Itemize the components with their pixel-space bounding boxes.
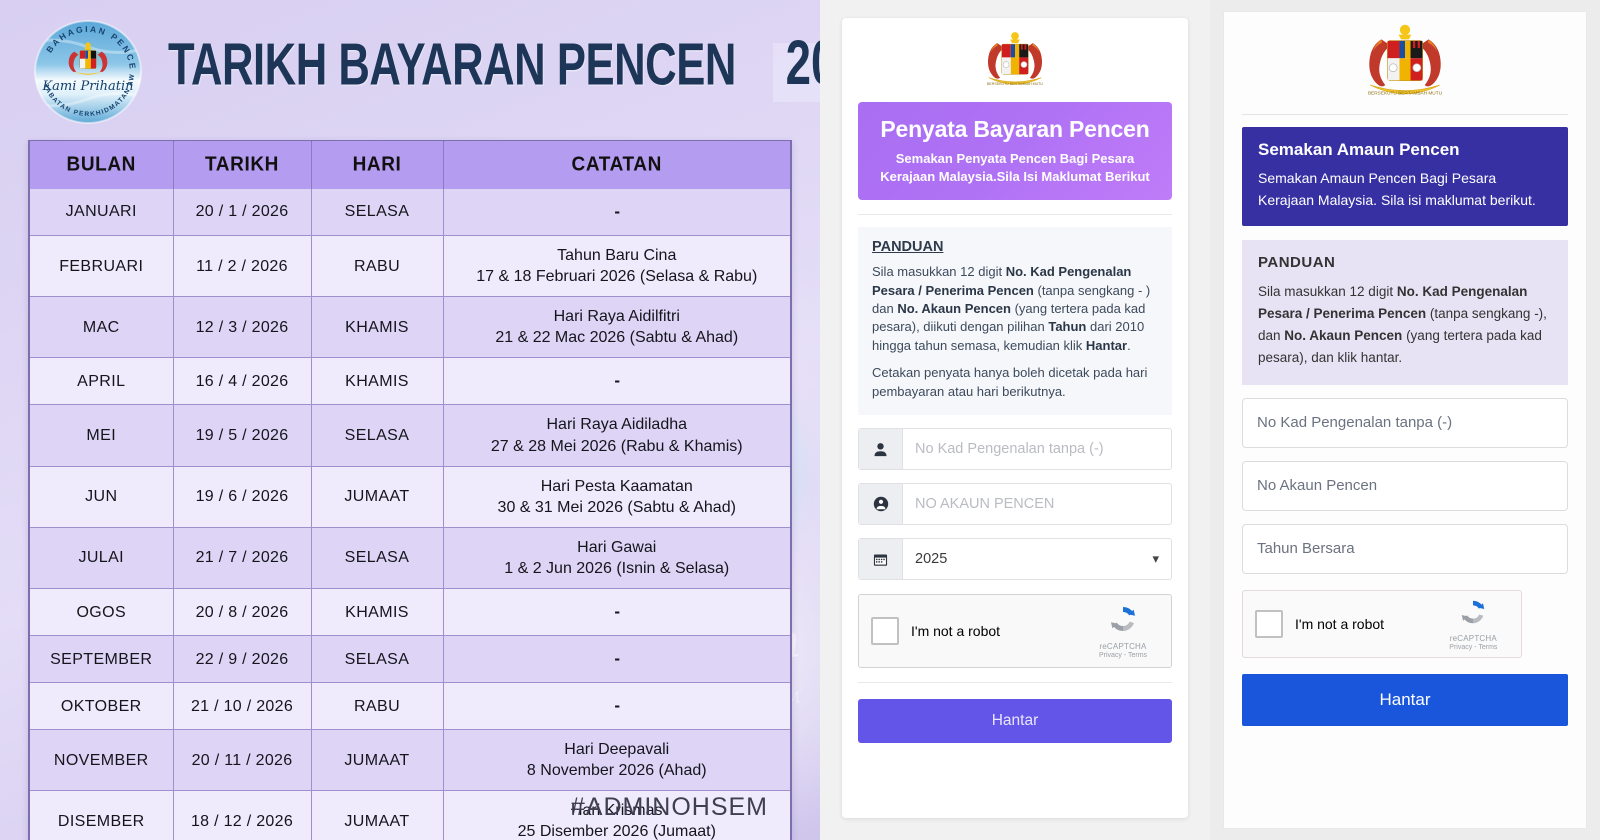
cell-date: 20 / 1 / 2026 [173,189,311,236]
account-input-wrap[interactable] [903,484,1171,524]
cell-month: JANUARI [29,189,173,236]
cell-note: Hari Raya Aidilfitri 21 & 22 Mac 2026 (S… [443,297,791,358]
col-header-tarikh: TARIKH [173,140,311,190]
cell-date: 11 / 2 / 2026 [173,236,311,297]
cell-day: SELASA [311,636,443,683]
cell-day: KHAMIS [311,589,443,636]
page-title: TARIKH BAYARAN PENCEN [168,30,736,99]
malaysia-coat-of-arms-icon: BERSEKUTU BERTAMBAH MUTU [1357,22,1453,104]
cell-date: 19 / 6 / 2026 [173,466,311,527]
recaptcha-logo-icon [1458,597,1488,627]
cell-day: JUMAAT [311,791,443,840]
penyata-bayaran-pencen-panel: BERSEKUTU BERTAMBAH MUTU Penyata Bayaran… [820,0,1210,840]
cell-month: OKTOBER [29,683,173,730]
table-row: MAC 12 / 3 / 2026 KHAMIS Hari Raya Aidil… [29,297,791,358]
panduan-paragraph: Sila masukkan 12 digit No. Kad Pengenala… [1258,281,1552,368]
recaptcha-branding: reCAPTCHA Privacy - Terms [1087,603,1159,659]
table-row: JULAI 21 / 7 / 2026 SELASA Hari Gawai 1 … [29,527,791,588]
recaptcha-legal-text: Privacy - Terms [1087,652,1159,659]
panduan-box: PANDUAN Sila masukkan 12 digit No. Kad P… [858,227,1172,415]
calendar-icon [859,539,903,579]
recaptcha-label: I'm not a robot [1295,616,1384,632]
cell-date: 12 / 3 / 2026 [173,297,311,358]
pension-payment-dates-poster: Prihatin JABATAN PERKHIDMATAN AWAM [0,0,820,840]
cell-date: 22 / 9 / 2026 [173,636,311,683]
ic-input[interactable] [1243,414,1567,431]
cell-date: 18 / 12 / 2026 [173,791,311,840]
poster-title-group: TARIKH BAYARAN PENCEN 2026 [168,43,820,102]
table-row: OGOS 20 / 8 / 2026 KHAMIS - [29,589,791,636]
submit-button[interactable]: Hantar [858,699,1172,743]
cell-note: - [443,189,791,236]
cell-note: Hari Deepavali 8 November 2026 (Ahad) [443,730,791,791]
cell-month: APRIL [29,358,173,405]
table-row: NOVEMBER 20 / 11 / 2026 JUMAAT Hari Deep… [29,730,791,791]
table-row: APRIL 16 / 4 / 2026 KHAMIS - [29,358,791,405]
cell-month: JULAI [29,527,173,588]
col-header-hari: HARI [311,140,443,190]
recaptcha-checkbox[interactable] [1255,610,1283,638]
penyata-banner: Penyata Bayaran Pencen Semakan Penyata P… [858,102,1172,200]
account-input[interactable] [1243,477,1567,494]
ic-field-row[interactable] [858,428,1172,470]
cell-day: SELASA [311,189,443,236]
cell-note: - [443,636,791,683]
crest-container: BERSEKUTU BERTAMBAH MUTU [858,18,1172,102]
recaptcha-left[interactable]: I'm not a robot [871,617,1087,645]
payment-schedule-table: BULAN TARIKH HARI CATATAN JANUARI 20 / 1… [28,140,792,840]
panduan-paragraph-1: Sila masukkan 12 digit No. Kad Pengenala… [872,263,1158,355]
recaptcha-branding: reCAPTCHA Privacy - Terms [1437,597,1509,651]
recaptcha-left[interactable]: I'm not a robot [1255,610,1437,638]
recaptcha-widget[interactable]: I'm not a robot reCAPTCHA Privacy - Term… [858,594,1172,668]
recaptcha-legal-text: Privacy - Terms [1437,644,1509,651]
crest-container: BERSEKUTU BERTAMBAH MUTU [1242,12,1568,114]
table-row: OKTOBER 21 / 10 / 2026 RABU - [29,683,791,730]
cell-day: KHAMIS [311,297,443,358]
cell-day: JUMAAT [311,466,443,527]
cell-month: MEI [29,405,173,466]
cell-note: - [443,683,791,730]
panduan-heading: PANDUAN [872,239,1158,255]
cell-note: Hari Pesta Kaamatan 30 & 31 Mei 2026 (Sa… [443,466,791,527]
recaptcha-brand-text: reCAPTCHA [1437,634,1509,643]
recaptcha-logo-icon [1107,603,1139,635]
ic-field[interactable] [1242,398,1568,448]
cell-month: JUN [29,466,173,527]
user-circle-icon [859,484,903,524]
penyata-form-card: BERSEKUTU BERTAMBAH MUTU Penyata Bayaran… [842,18,1188,818]
semakan-form-card: BERSEKUTU BERTAMBAH MUTU Semakan Amaun P… [1224,12,1586,828]
cell-day: KHAMIS [311,358,443,405]
table-row: SEPTEMBER 22 / 9 / 2026 SELASA - [29,636,791,683]
table-row: MEI 19 / 5 / 2026 SELASA Hari Raya Aidil… [29,405,791,466]
year-select[interactable] [903,539,1171,579]
submit-button[interactable]: Hantar [1242,674,1568,726]
cell-month: MAC [29,297,173,358]
retirement-year-input[interactable] [1243,540,1567,557]
divider [858,682,1172,683]
cell-note: Hari Gawai 1 & 2 Jun 2026 (Isnin & Selas… [443,527,791,588]
cell-month: SEPTEMBER [29,636,173,683]
payment-schedule-table-wrap: BULAN TARIKH HARI CATATAN JANUARI 20 / 1… [28,140,792,840]
cell-month: NOVEMBER [29,730,173,791]
cell-date: 21 / 7 / 2026 [173,527,311,588]
ic-input[interactable] [903,429,1171,469]
col-header-catatan: CATATAN [443,140,791,190]
semakan-banner: Semakan Amaun Pencen Semakan Amaun Pence… [1242,127,1568,226]
year-field-row[interactable]: ▾ [858,538,1172,580]
app-screen: Prihatin JABATAN PERKHIDMATAN AWAM [0,0,1600,840]
divider [858,214,1172,215]
cell-note: Hari Raya Aidiladha 27 & 28 Mei 2026 (Ra… [443,405,791,466]
cell-date: 19 / 5 / 2026 [173,405,311,466]
cell-day: SELASA [311,527,443,588]
penyata-banner-title: Penyata Bayaran Pencen [868,116,1162,143]
cell-day: JUMAAT [311,730,443,791]
year-highlight: 2026 [773,43,820,102]
user-icon [859,429,903,469]
divider [1242,114,1568,115]
cell-note: - [443,358,791,405]
recaptcha-label: I'm not a robot [911,623,1000,639]
cell-day: SELASA [311,405,443,466]
svg-text:BERSEKUTU BERTAMBAH MUTU: BERSEKUTU BERTAMBAH MUTU [987,82,1043,86]
svg-text:BERSEKUTU BERTAMBAH MUTU: BERSEKUTU BERTAMBAH MUTU [1368,91,1443,97]
poster-year: 2026 [786,27,820,100]
poster-header: Kami Prihatin BAHAGIAN PENCEN JABATAN PE… [0,0,820,134]
penyata-banner-subtitle: Semakan Penyata Pencen Bagi Pesara Keraj… [868,150,1162,185]
recaptcha-checkbox[interactable] [871,617,899,645]
cell-date: 16 / 4 / 2026 [173,358,311,405]
poster-hashtag: #ADMINOHSEM [571,793,768,822]
panduan-heading: PANDUAN [1258,254,1552,271]
semakan-banner-title: Semakan Amaun Pencen [1258,140,1552,160]
svg-text:Kami Prihatin: Kami Prihatin [41,79,133,94]
table-row: JUN 19 / 6 / 2026 JUMAAT Hari Pesta Kaam… [29,466,791,527]
cell-month: DISEMBER [29,791,173,840]
account-input[interactable] [903,484,1171,524]
cell-day: RABU [311,683,443,730]
cell-month: OGOS [29,589,173,636]
table-row: JANUARI 20 / 1 / 2026 SELASA - [29,189,791,236]
panduan-box: PANDUAN Sila masukkan 12 digit No. Kad P… [1242,240,1568,384]
table-row: FEBRUARI 11 / 2 / 2026 RABU Tahun Baru C… [29,236,791,297]
retirement-year-field[interactable] [1242,524,1568,574]
cell-month: FEBRUARI [29,236,173,297]
col-header-bulan: BULAN [29,140,173,190]
account-field[interactable] [1242,461,1568,511]
recaptcha-brand-text: reCAPTCHA [1087,642,1159,651]
cell-date: 21 / 10 / 2026 [173,683,311,730]
malaysia-coat-of-arms-icon: BERSEKUTU BERTAMBAH MUTU [979,30,1051,92]
cell-day: RABU [311,236,443,297]
table-header-row: BULAN TARIKH HARI CATATAN [29,141,791,189]
account-field-row[interactable] [858,483,1172,525]
cell-note: - [443,589,791,636]
semakan-banner-subtitle: Semakan Amaun Pencen Bagi Pesara Kerajaa… [1258,168,1552,211]
recaptcha-widget[interactable]: I'm not a robot reCAPTCHA Privacy - Term… [1242,590,1522,658]
cell-date: 20 / 8 / 2026 [173,589,311,636]
cell-note: Tahun Baru Cina 17 & 18 Februari 2026 (S… [443,236,791,297]
cell-date: 20 / 11 / 2026 [173,730,311,791]
semakan-amaun-pencen-panel: BERSEKUTU BERTAMBAH MUTU Semakan Amaun P… [1210,0,1600,840]
jpa-pension-seal: Kami Prihatin BAHAGIAN PENCEN JABATAN PE… [22,18,154,126]
year-select-wrap[interactable]: ▾ [903,539,1171,579]
panduan-paragraph-2: Cetakan penyata hanya boleh dicetak pada… [872,364,1158,401]
